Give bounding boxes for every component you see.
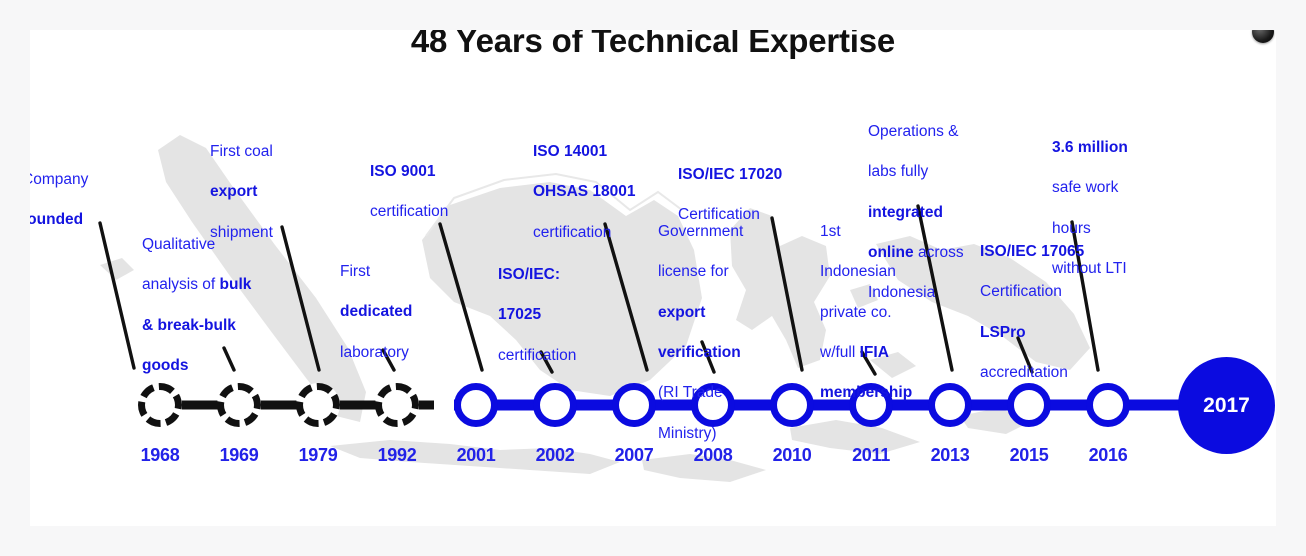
year-label-2016: 2016: [1068, 445, 1148, 466]
timeline-node-2001[interactable]: [454, 383, 498, 427]
callout-2013-line3: integrated: [868, 204, 943, 221]
year-label-2001: 2001: [436, 445, 516, 466]
callout-1979-line3: shipment: [210, 223, 340, 243]
callout-2008-line5: (RI Trade: [658, 383, 768, 403]
callout-2008-line4: verification: [658, 344, 741, 361]
timeline-node-1992[interactable]: [375, 383, 419, 427]
callout-2002-line1: ISO/IEC:: [498, 266, 560, 283]
year-label-2013: 2013: [910, 445, 990, 466]
year-label-2015: 2015: [989, 445, 1069, 466]
callout-2011-line4-bold: IFIA: [860, 344, 889, 361]
callout-1979-line2: export: [210, 183, 257, 200]
callout-2016-line2: safe work: [1052, 178, 1182, 198]
callout-1969-line2-bold: bulk: [220, 276, 252, 293]
callout-2007-line2: OHSAS 18001: [533, 183, 636, 200]
callout-1968-line1: Company: [30, 170, 132, 190]
callout-2008-line2: license for: [658, 262, 768, 282]
timeline-endcap-2017[interactable]: 2017: [1178, 357, 1275, 454]
callout-1968-line2: founded: [30, 211, 83, 228]
callout-2010-line2: Certification: [678, 205, 828, 225]
callout-2007-line1: ISO 14001: [533, 143, 607, 160]
callout-2016-line4: without LTI: [1052, 259, 1182, 279]
callout-2002: ISO/IEC: 17025 certification: [498, 245, 628, 386]
year-label-2011: 2011: [831, 445, 911, 466]
infographic-canvas: 48 Years of Technical Expertise: [30, 30, 1276, 526]
callout-2001: ISO 9001 certification: [370, 142, 500, 243]
callout-2001-line2: certification: [370, 202, 500, 222]
callout-1969-line2: analysis of: [142, 276, 220, 293]
callout-2013-line1: Operations &: [868, 122, 1008, 142]
year-label-1968: 1968: [120, 445, 200, 466]
callout-1992-line2: dedicated: [340, 303, 412, 320]
callout-2010-line1: ISO/IEC 17020: [678, 166, 782, 183]
callout-2013-line4-rest: across: [914, 244, 964, 261]
callout-2011-line5: membership: [820, 384, 912, 401]
callout-2008-line6: Ministry): [658, 424, 768, 444]
callout-1979-line1: First coal: [210, 142, 340, 162]
callout-2001-line1: ISO 9001: [370, 163, 436, 180]
callout-2010: ISO/IEC 17020 Certification: [678, 145, 828, 246]
callout-2002-line2: 17025: [498, 306, 541, 323]
callout-2007: ISO 14001 OHSAS 18001 certification: [533, 122, 673, 263]
callout-2007-line3: certification: [533, 223, 673, 243]
callout-1992-line3: laboratory: [340, 343, 460, 363]
callout-2016-line3: hours: [1052, 219, 1182, 239]
callout-1968: Company founded: [30, 150, 132, 251]
callout-2013-line2: labs fully: [868, 162, 1008, 182]
callout-2002-line3: certification: [498, 346, 628, 366]
timeline-node-1979[interactable]: [296, 383, 340, 427]
callout-2013-line4: online: [868, 244, 914, 261]
callout-1992-line1: First: [340, 262, 460, 282]
callout-1969-line3: & break-bulk: [142, 317, 236, 334]
year-label-1979: 1979: [278, 445, 358, 466]
year-label-1992: 1992: [357, 445, 437, 466]
timeline-node-2010[interactable]: [770, 383, 814, 427]
callout-1969-line4: goods: [142, 357, 189, 374]
endcap-year-label: 2017: [1203, 394, 1250, 418]
timeline-node-2007[interactable]: [612, 383, 656, 427]
callout-2015-line3: LSPro: [980, 324, 1026, 341]
callout-2011-line4: w/full: [820, 344, 860, 361]
timeline-node-2002[interactable]: [533, 383, 577, 427]
callout-2016-line1: 3.6 million: [1052, 139, 1128, 156]
callout-2008-line3: export: [658, 304, 705, 321]
year-label-2002: 2002: [515, 445, 595, 466]
year-label-1969: 1969: [199, 445, 279, 466]
callout-2015-line4: accreditation: [980, 363, 1130, 383]
callout-2016: 3.6 million safe work hours without LTI: [1052, 118, 1182, 299]
callout-1992: First dedicated laboratory: [340, 242, 460, 383]
callout-1979: First coal export shipment: [210, 122, 340, 263]
